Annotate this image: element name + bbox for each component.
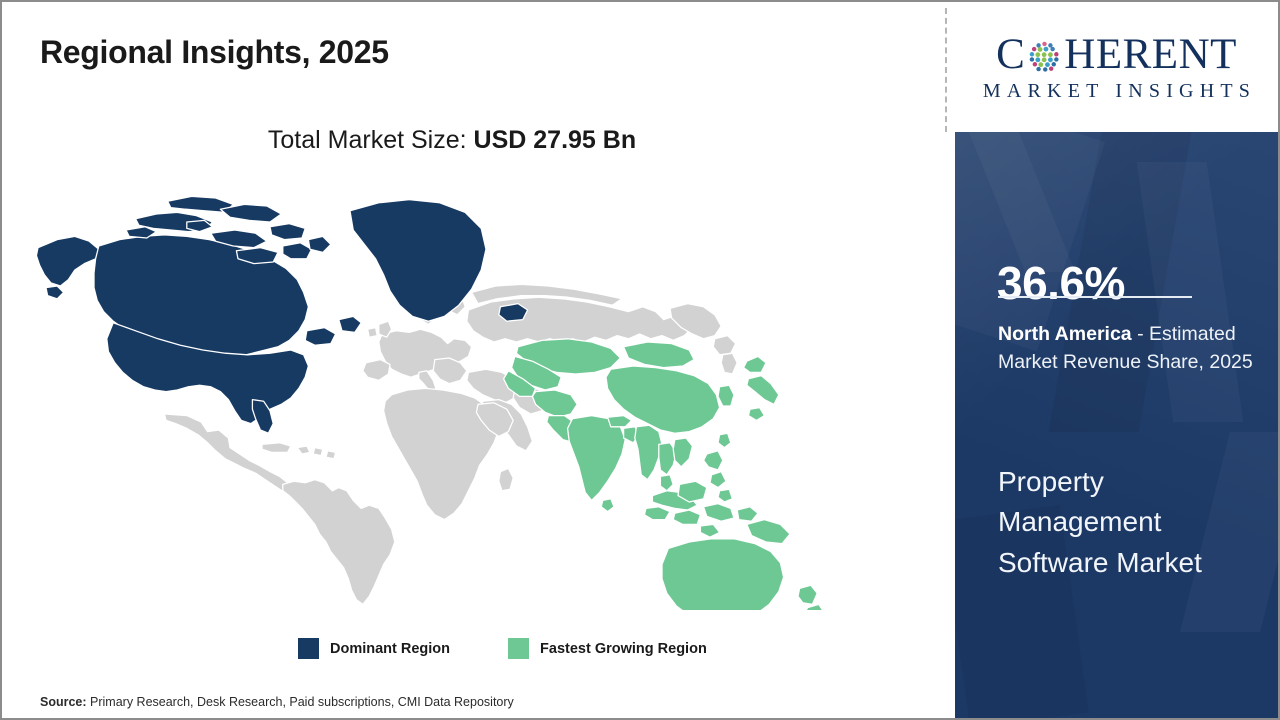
total-market-size-label: Total Market Size: — [268, 126, 474, 154]
brand-logo: C — [955, 6, 1278, 130]
stat-percentage: 36.6% — [997, 260, 1125, 306]
total-market-size: Total Market Size: USD 27.95 Bn — [2, 126, 902, 155]
logo-wordmark: C — [996, 33, 1237, 76]
legend-label-dominant: Dominant Region — [330, 641, 450, 657]
legend-swatch-dominant — [298, 638, 319, 659]
stat-sidebar-panel: 36.6% North America - Estimated Market R… — [955, 132, 1280, 720]
world-map-svg — [30, 190, 830, 610]
source-note: Source: Primary Research, Desk Research,… — [40, 695, 514, 709]
logo-letters-herent: HERENT — [1064, 33, 1237, 76]
total-market-size-value: USD 27.95 Bn — [474, 126, 637, 154]
logo-letter-c: C — [996, 33, 1025, 76]
source-label: Source: — [40, 695, 87, 709]
legend-item-dominant: Dominant Region — [298, 638, 450, 659]
stat-region-name: North America — [998, 323, 1132, 345]
legend-swatch-fastest-growing — [508, 638, 529, 659]
logo-subtitle: MARKET INSIGHTS — [977, 80, 1256, 103]
map-region-fastest-growing-asia-pacific — [504, 339, 826, 610]
legend-label-fastest-growing: Fastest Growing Region — [540, 641, 707, 657]
market-title: Property Management Software Market — [998, 462, 1266, 583]
vertical-divider — [945, 8, 947, 132]
source-text: Primary Research, Desk Research, Paid su… — [87, 695, 514, 709]
world-map — [30, 190, 830, 610]
stat-divider-rule — [998, 296, 1192, 298]
page-title: Regional Insights, 2025 — [40, 34, 389, 71]
regional-insights-infographic: Regional Insights, 2025 Total Market Siz… — [0, 0, 1280, 720]
stat-description: North America - Estimated Market Revenue… — [998, 320, 1268, 376]
dotted-globe-icon — [1026, 38, 1063, 75]
legend-item-fastest-growing: Fastest Growing Region — [508, 638, 707, 659]
map-legend: Dominant Region Fastest Growing Region — [298, 638, 707, 659]
left-content-panel: Regional Insights, 2025 Total Market Siz… — [2, 2, 945, 718]
